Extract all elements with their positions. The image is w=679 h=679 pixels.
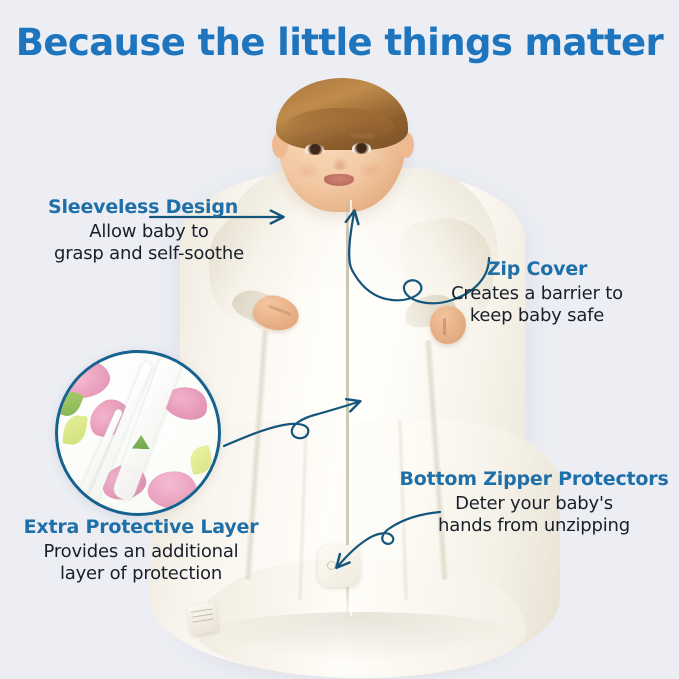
callout-body-line-1: Creates a barrier to <box>415 283 659 305</box>
infographic-canvas: Because the little things matter <box>0 0 679 679</box>
callout-body-line-2: layer of protection <box>12 563 270 585</box>
callout-title: Extra Protective Layer <box>12 516 270 538</box>
callout-title: Bottom Zipper Protectors <box>398 468 670 490</box>
callout-sleeveless-design: Sleeveless Design Allow baby to grasp an… <box>24 196 274 265</box>
callout-extra-protective-layer: Extra Protective Layer Provides an addit… <box>12 516 270 585</box>
callout-body-line-1: Allow baby to <box>24 221 274 243</box>
callout-bottom-zipper-protectors: Bottom Zipper Protectors Deter your baby… <box>398 468 670 537</box>
arrow-extra-protective-layer <box>224 402 358 446</box>
callout-title: Zip Cover <box>415 258 659 280</box>
callout-title: Sleeveless Design <box>24 196 274 218</box>
callout-body-line-2: keep baby safe <box>415 305 659 327</box>
callout-body-line-1: Deter your baby's <box>398 493 670 515</box>
callout-zip-cover: Zip Cover Creates a barrier to keep baby… <box>415 258 659 327</box>
callout-body-line-2: hands from unzipping <box>398 515 670 537</box>
callout-body-line-2: grasp and self-soothe <box>24 243 274 265</box>
callout-body-line-1: Provides an additional <box>12 541 270 563</box>
